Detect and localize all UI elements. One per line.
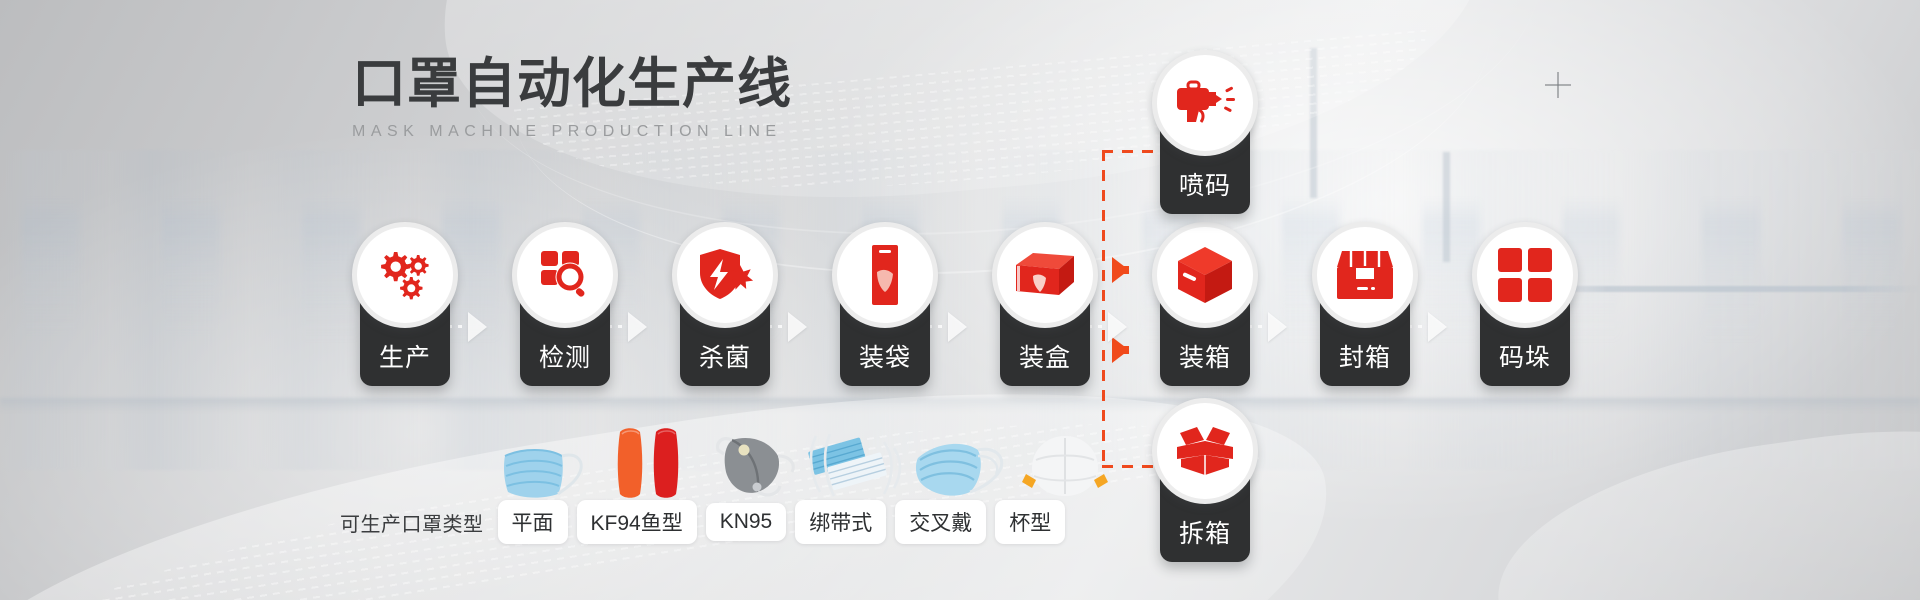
page-title: 口罩自动化生产线	[352, 56, 792, 113]
page-title-block: 口罩自动化生产线 MASK MACHINE PRODUCTION LINE	[352, 56, 792, 141]
flow-chevron-3	[788, 312, 807, 342]
flow-chevron-4	[948, 312, 967, 342]
gears-icon	[352, 222, 458, 328]
unbox-open-carton-icon	[1152, 398, 1258, 504]
plus-decoration-icon	[1545, 72, 1571, 98]
flow-step-label: 装盒	[992, 338, 1098, 374]
mask-type-tag-cup[interactable]: 杯型	[995, 500, 1065, 544]
flow-step-label: 生产	[352, 338, 458, 374]
mask-types-row: 可生产口罩类型 平面 KF94鱼型 KN95 绑带式 交叉戴 杯型	[340, 500, 1074, 544]
mask-types-label: 可生产口罩类型	[340, 508, 484, 537]
mask-type-tag-crosswear[interactable]: 交叉戴	[895, 500, 986, 544]
banner-stage: 口罩自动化生产线 MASK MACHINE PRODUCTION LINE	[0, 0, 1920, 600]
flow-step-label: 拆箱	[1152, 514, 1258, 550]
mask-type-tag-kf94[interactable]: KF94鱼型	[577, 500, 697, 544]
kf94-fish-orange-red-mask-photo	[612, 424, 690, 502]
mask-type-tag-flat[interactable]: 平面	[498, 500, 568, 544]
flow-step-label: 码垛	[1472, 338, 1578, 374]
flow-step-label: 装箱	[1152, 338, 1258, 374]
inkjet-spray-gun-icon	[1152, 50, 1258, 156]
flat-blue-mask-photo	[500, 442, 590, 502]
flow-step-label: 杀菌	[672, 338, 778, 374]
carton-seal-icon	[1312, 222, 1418, 328]
flow-chevron-1	[468, 312, 487, 342]
branch-vertical-line	[1102, 150, 1105, 468]
kn95-gray-valve-mask-photo	[708, 432, 804, 502]
inspection-magnifier-icon	[512, 222, 618, 328]
background-pole-a	[1310, 48, 1317, 198]
flow-chevron-2	[628, 312, 647, 342]
flow-step-label: 装袋	[832, 338, 938, 374]
cup-white-mask-photo	[1022, 432, 1108, 502]
flow-step-label: 喷码	[1152, 166, 1258, 202]
page-subtitle: MASK MACHINE PRODUCTION LINE	[352, 123, 792, 141]
cross-wear-blue-mask-photo	[912, 438, 1012, 502]
branch-top-line	[1102, 150, 1157, 153]
flow-chevron-6	[1268, 312, 1287, 342]
flow-step-label: 检测	[512, 338, 618, 374]
mask-type-tag-tieon[interactable]: 绑带式	[795, 500, 886, 544]
background-pole-b	[1443, 152, 1450, 262]
boxing-icon	[992, 222, 1098, 328]
flow-step-label: 封箱	[1312, 338, 1418, 374]
palletize-grid-icon	[1472, 222, 1578, 328]
flow-chevron-5	[1108, 312, 1127, 342]
mask-photo-strip	[500, 420, 1020, 502]
shield-sterilize-icon	[672, 222, 778, 328]
branch-arrow-upper	[1112, 257, 1129, 283]
background-floor-line	[0, 398, 1920, 412]
branch-bottom-line	[1102, 465, 1157, 468]
flow-chevron-7	[1428, 312, 1447, 342]
tie-on-blue-mask-photo	[806, 434, 906, 502]
bagging-icon	[832, 222, 938, 328]
mask-type-tag-kn95[interactable]: KN95	[706, 503, 787, 541]
background-rail	[1540, 286, 1920, 292]
carton-pack-icon	[1152, 222, 1258, 328]
